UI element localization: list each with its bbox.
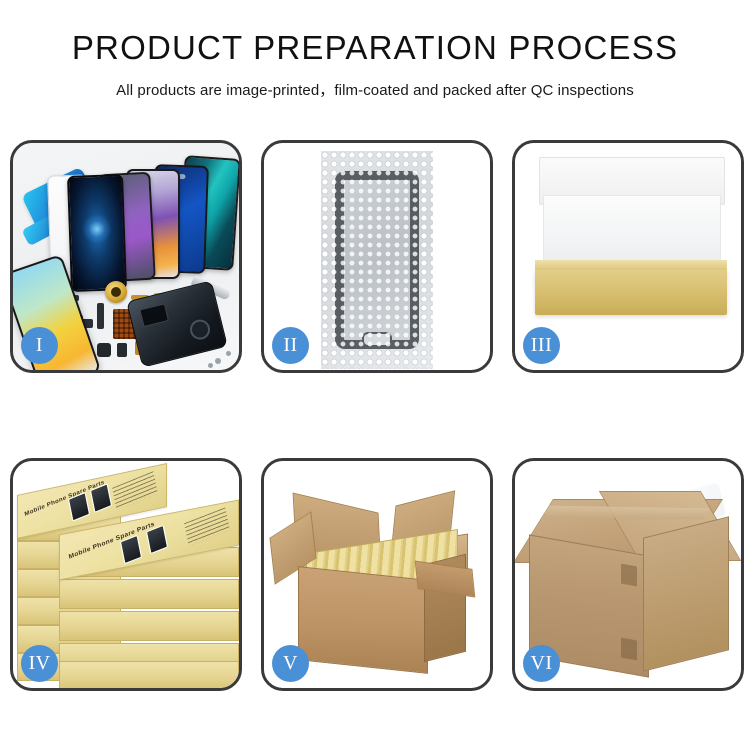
carton-handle-notch-icon [621,564,637,587]
box-printed-screen-icon [146,525,168,555]
phone-black-screen-icon [67,174,127,292]
step-badge-6: VI [523,645,560,682]
page-title: PRODUCT PREPARATION PROCESS [0,30,750,66]
page-subtitle: All products are image-printed，film-coat… [0,79,750,100]
speaker-coil-icon [105,281,127,303]
step-badge-2: II [272,327,309,364]
page-header: PRODUCT PREPARATION PROCESS All products… [0,30,750,100]
screw-icon [226,351,231,356]
step-badge-1: I [21,327,58,364]
carton-side-face-icon [643,516,729,671]
spare-part-icon [97,303,104,329]
spare-part-icon [97,343,111,357]
carton-handle-notch-icon [621,638,637,661]
step-badge-5: V [272,645,309,682]
stacked-box-edge [59,661,239,688]
screw-icon [208,363,213,368]
box-spec-text-lines [112,471,158,510]
box-printed-screen-icon [90,483,112,513]
step-badge-4: IV [21,645,58,682]
spare-part-icon [117,343,127,357]
process-step-panel-6: VI [512,458,744,691]
phone-screen-icon [335,171,419,349]
box-spec-text-lines [184,507,230,546]
stacked-box-edge [59,611,239,641]
stacked-box-edge [59,579,239,609]
process-step-panel-2: II [261,140,493,373]
process-steps-grid: I II III [10,140,745,691]
process-step-panel-3: III [512,140,744,373]
kraft-box-icon [535,269,727,315]
screw-icon [215,358,221,364]
carton-front-face-icon [298,566,428,674]
process-step-panel-1: I [10,140,242,373]
process-step-panel-4: Mobile Phone Spare Parts Mobile Phone Sp… [10,458,242,691]
process-step-panel-5: V [261,458,493,691]
product-preparation-process-page: PRODUCT PREPARATION PROCESS All products… [0,0,750,750]
box-printed-screen-icon [68,492,90,522]
step-badge-3: III [523,327,560,364]
box-printed-screen-icon [120,535,142,565]
